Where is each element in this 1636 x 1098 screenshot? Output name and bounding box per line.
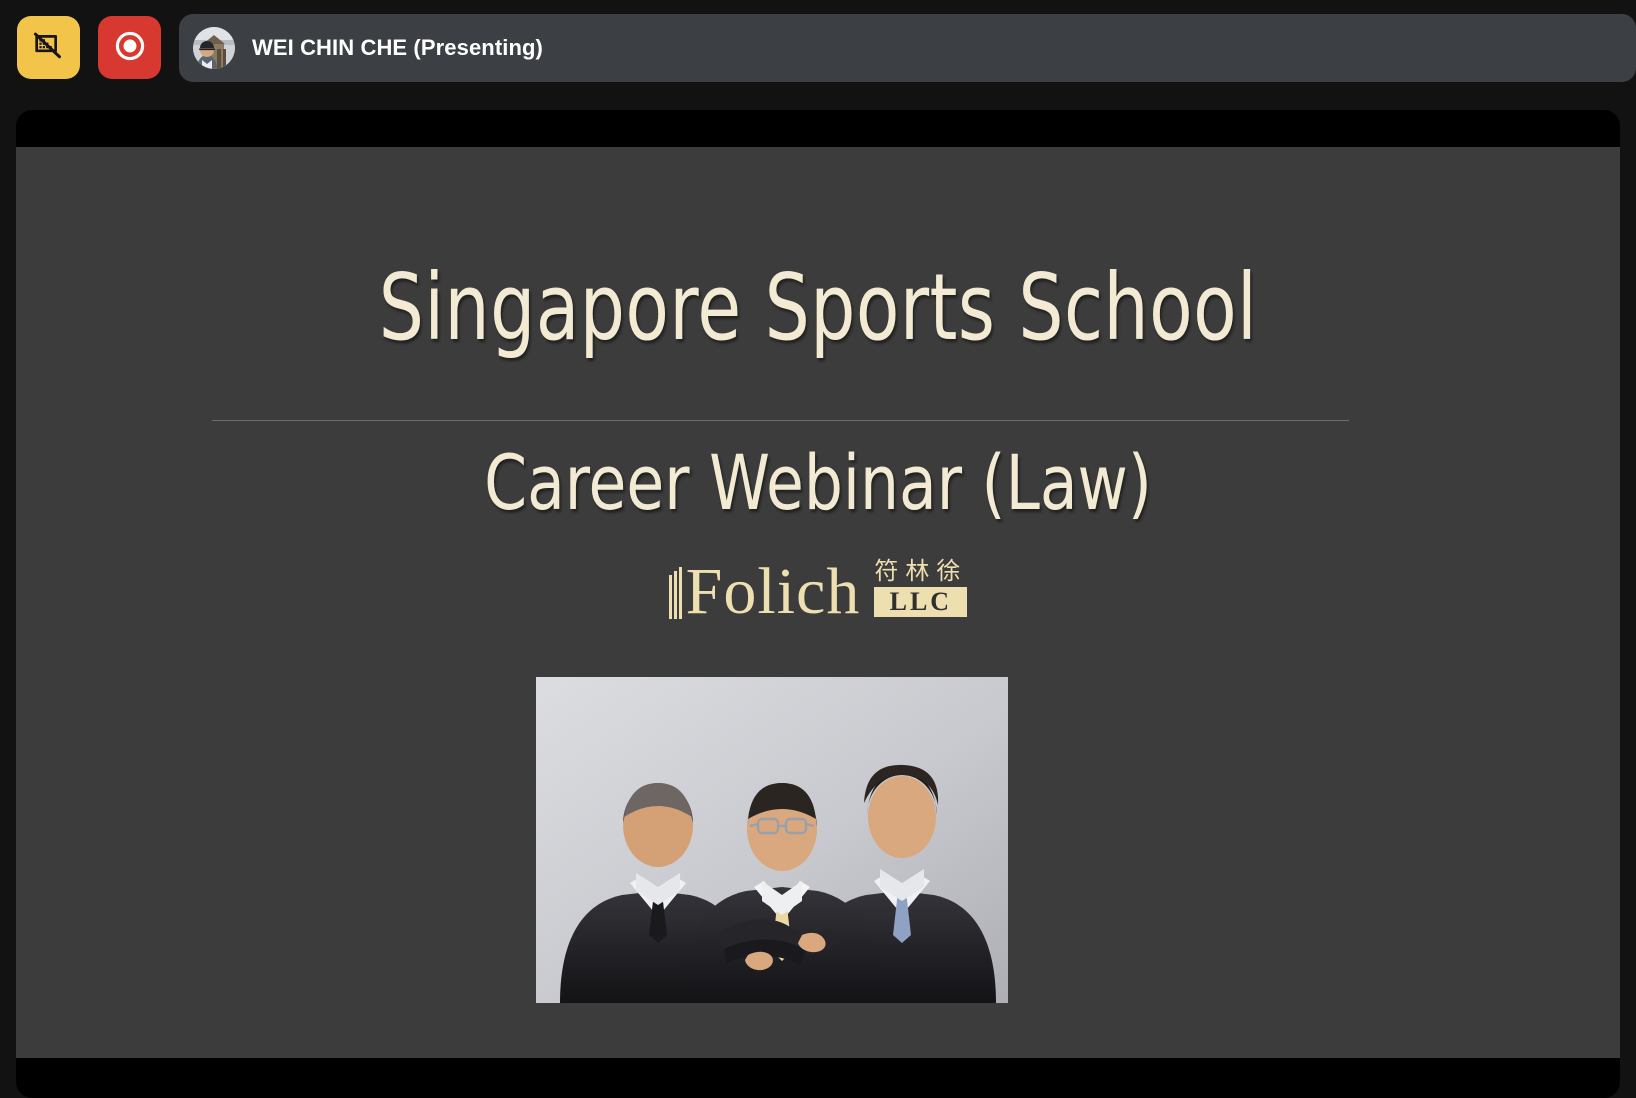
screen-share-off-icon	[32, 29, 66, 66]
presentation-slide[interactable]: Singapore Sports School Career Webinar (…	[16, 147, 1620, 1058]
logo-bars-icon	[669, 567, 682, 623]
logo-chinese-characters: 符林徐	[874, 559, 967, 583]
presenter-name: WEI CHIN CHE (Presenting)	[252, 35, 543, 61]
avatar	[193, 27, 235, 69]
logo-wordmark: Folich	[686, 561, 861, 624]
record-button[interactable]: Recording	[98, 16, 161, 79]
shared-screen-frame[interactable]: Singapore Sports School Career Webinar (…	[16, 110, 1620, 1098]
team-photo: Three lawyers in dark suits posed agains…	[536, 677, 1008, 1003]
stop-presenting-button[interactable]: Stop presenting	[17, 16, 80, 79]
presentation-toolbar: Stop presenting Recording	[0, 0, 1636, 95]
record-circle-icon	[112, 28, 148, 67]
presenter-pill[interactable]: WEI CHIN CHE (Presenting)	[179, 14, 1636, 82]
folich-llc-logo: Folich 符林徐 LLC	[16, 559, 1620, 623]
logo-llc-suffix: LLC	[874, 587, 967, 617]
slide-subtitle: Career Webinar (Law)	[96, 445, 1540, 521]
slide-title: Singapore Sports School	[128, 262, 1507, 354]
slide-divider	[212, 420, 1349, 421]
